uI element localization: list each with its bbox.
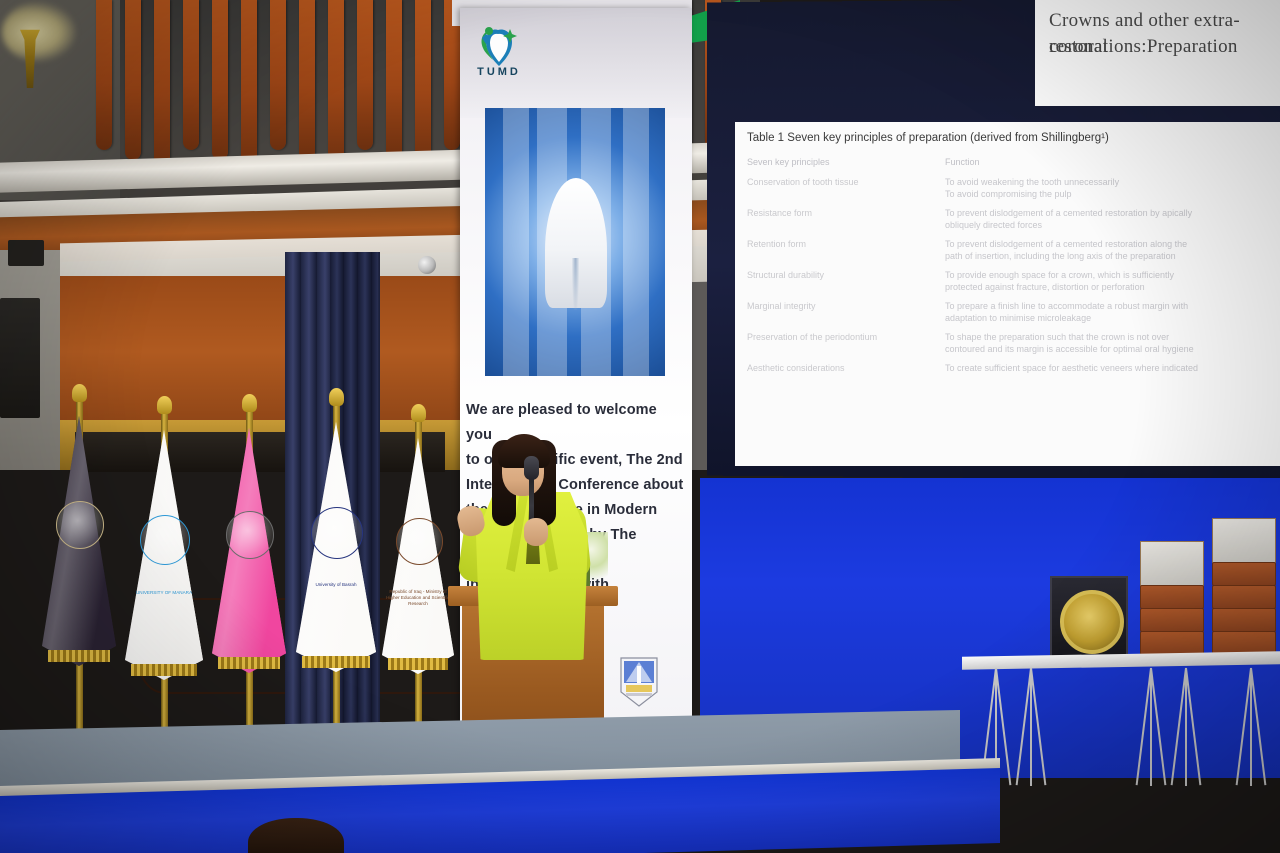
flag-ministry-higher-education-label: Republic of Iraq - Ministry of Higher Ed… xyxy=(384,589,452,607)
flag-finial-icon xyxy=(329,388,344,406)
table-leg xyxy=(1030,668,1032,786)
sconce-glow xyxy=(2,2,76,62)
table-row: Resistance formTo prevent dislodgement o… xyxy=(747,207,1272,231)
table-cell-principle: Structural durability xyxy=(747,269,945,293)
award-box xyxy=(1140,585,1204,609)
table-function-line: contoured and its margin is accessible f… xyxy=(945,343,1272,355)
microphone-icon xyxy=(524,456,539,480)
table-row: Conservation of tooth tissueTo avoid wea… xyxy=(747,176,1272,200)
award-box xyxy=(1140,631,1204,655)
table-cell-principle: Marginal integrity xyxy=(747,300,945,324)
award-box xyxy=(1212,585,1276,609)
wall-slat xyxy=(386,0,402,160)
tumd-logo-icon xyxy=(472,24,526,72)
flag-fringe xyxy=(218,657,280,669)
flag-dental-pink-seal-icon xyxy=(226,511,274,559)
flag-manara-university-label: UNIVERSITY OF MANARA xyxy=(127,590,201,596)
tumd-logo-text: TUMD xyxy=(470,66,528,78)
banner-image-strip xyxy=(623,108,649,376)
award-box xyxy=(1212,608,1276,632)
pa-speaker-icon xyxy=(0,298,40,418)
wall-slat xyxy=(299,0,315,160)
table-function-line: To create sufficient space for aesthetic… xyxy=(945,362,1272,374)
flag-ministry-higher-education-seal-icon xyxy=(396,518,443,565)
flag-finial-icon xyxy=(411,404,426,422)
table-leg xyxy=(1150,668,1152,786)
wall-slat xyxy=(241,0,257,170)
award-box-open-lid xyxy=(1212,518,1276,564)
flag-fringe xyxy=(302,656,370,668)
table-function-line: To prevent dislodgement of a cemented re… xyxy=(945,238,1272,250)
table-row: Marginal integrityTo prepare a finish li… xyxy=(747,300,1272,324)
table-row: Preservation of the periodontiumTo shape… xyxy=(747,331,1272,355)
banner-image-strip xyxy=(503,108,529,376)
wall-slat xyxy=(154,0,170,170)
table-cell-function: To create sufficient space for aesthetic… xyxy=(945,362,1272,374)
table-leg xyxy=(1250,668,1252,786)
award-box xyxy=(1140,608,1204,632)
flag-black-pyramid-seal-icon xyxy=(56,501,104,549)
table-col-function: Function xyxy=(945,156,1272,168)
alexandria-university-emblem-icon xyxy=(617,654,661,708)
speaker-hand-right xyxy=(524,518,548,546)
wall-slat xyxy=(357,0,373,150)
flag-manara-university-seal-icon xyxy=(140,515,190,565)
dark-door-glass xyxy=(75,432,445,472)
table-function-line: To prevent dislodgement of a cemented re… xyxy=(945,207,1272,219)
table-cell-function: To prepare a finish line to accommodate … xyxy=(945,300,1272,324)
table-cell-function: To avoid weakening the tooth unnecessari… xyxy=(945,176,1272,200)
slide-table-panel: Table 1 Seven key principles of preparat… xyxy=(735,122,1280,466)
table-cell-principle: Conservation of tooth tissue xyxy=(747,176,945,200)
wall-slat xyxy=(415,0,431,170)
table-body: Seven key principlesFunctionConservation… xyxy=(747,156,1272,381)
tooth-root-shadow xyxy=(572,258,579,310)
table-function-line: protected against fracture, distortion o… xyxy=(945,281,1272,293)
table-row: Aesthetic considerationsTo create suffic… xyxy=(747,362,1272,374)
table-cell-principle: Resistance form xyxy=(747,207,945,231)
table-function-line: To avoid weakening the tooth unnecessari… xyxy=(945,176,1272,188)
table-function-line: To prepare a finish line to accommodate … xyxy=(945,300,1272,312)
wall-slat xyxy=(270,0,286,150)
table-cell-function: To prevent dislodgement of a cemented re… xyxy=(945,207,1272,231)
wall-slat xyxy=(183,0,199,150)
flag-finial-icon xyxy=(72,384,87,402)
table-function-line: Function xyxy=(945,156,1272,168)
flag-finial-icon xyxy=(157,396,172,414)
table-cell-principle: Preservation of the periodontium xyxy=(747,331,945,355)
table-header-row: Seven key principlesFunction xyxy=(747,156,1272,168)
slide-title-panel: Crowns and other extra-coronal restorati… xyxy=(1035,0,1280,106)
table-cell-function: To provide enough space for a crown, whi… xyxy=(945,269,1272,293)
slide-title-line-2: restorations:Preparation xyxy=(1049,34,1238,60)
award-box xyxy=(1212,562,1276,586)
table-row: Retention formTo prevent dislodgement of… xyxy=(747,238,1272,262)
conference-photo-scene: UNIVERSITY OF MANARAUniversity of Basrah… xyxy=(0,0,1280,853)
flag-finial-icon xyxy=(242,394,257,412)
table-cell-function: To shape the preparation such that the c… xyxy=(945,331,1272,355)
table-function-line: To avoid compromising the pulp xyxy=(945,188,1272,200)
security-camera-icon xyxy=(418,256,436,274)
flag-fringe xyxy=(131,664,197,676)
wall-slat xyxy=(328,0,344,170)
table-caption: Table 1 Seven key principles of preparat… xyxy=(747,132,1267,144)
table-function-line: obliquely directed forces xyxy=(945,219,1272,231)
table-function-line: path of insertion, including the long ax… xyxy=(945,250,1272,262)
table-function-line: adaptation to minimise microleakage xyxy=(945,312,1272,324)
flag-university-of-basrah-seal-icon xyxy=(311,507,363,559)
table-row: Structural durabilityTo provide enough s… xyxy=(747,269,1272,293)
flag-university-of-basrah-label: University of Basrah xyxy=(298,582,374,588)
wall-slat xyxy=(125,0,141,160)
table-function-line: To provide enough space for a crown, whi… xyxy=(945,269,1272,281)
wall-equipment-box xyxy=(8,240,44,266)
flag-fringe xyxy=(388,658,448,670)
table-cell-function: To prevent dislodgement of a cemented re… xyxy=(945,238,1272,262)
award-box-open-lid xyxy=(1140,541,1204,587)
gold-plaque-icon xyxy=(1060,590,1124,654)
table-leg xyxy=(1185,668,1187,786)
table-cell-principle: Aesthetic considerations xyxy=(747,362,945,374)
table-col-principles: Seven key principles xyxy=(747,156,945,168)
wall-slat xyxy=(212,0,228,160)
table-function-line: To shape the preparation such that the c… xyxy=(945,331,1272,343)
table-cell-principle: Retention form xyxy=(747,238,945,262)
flag-fringe xyxy=(48,650,110,662)
wall-slat xyxy=(96,0,112,150)
